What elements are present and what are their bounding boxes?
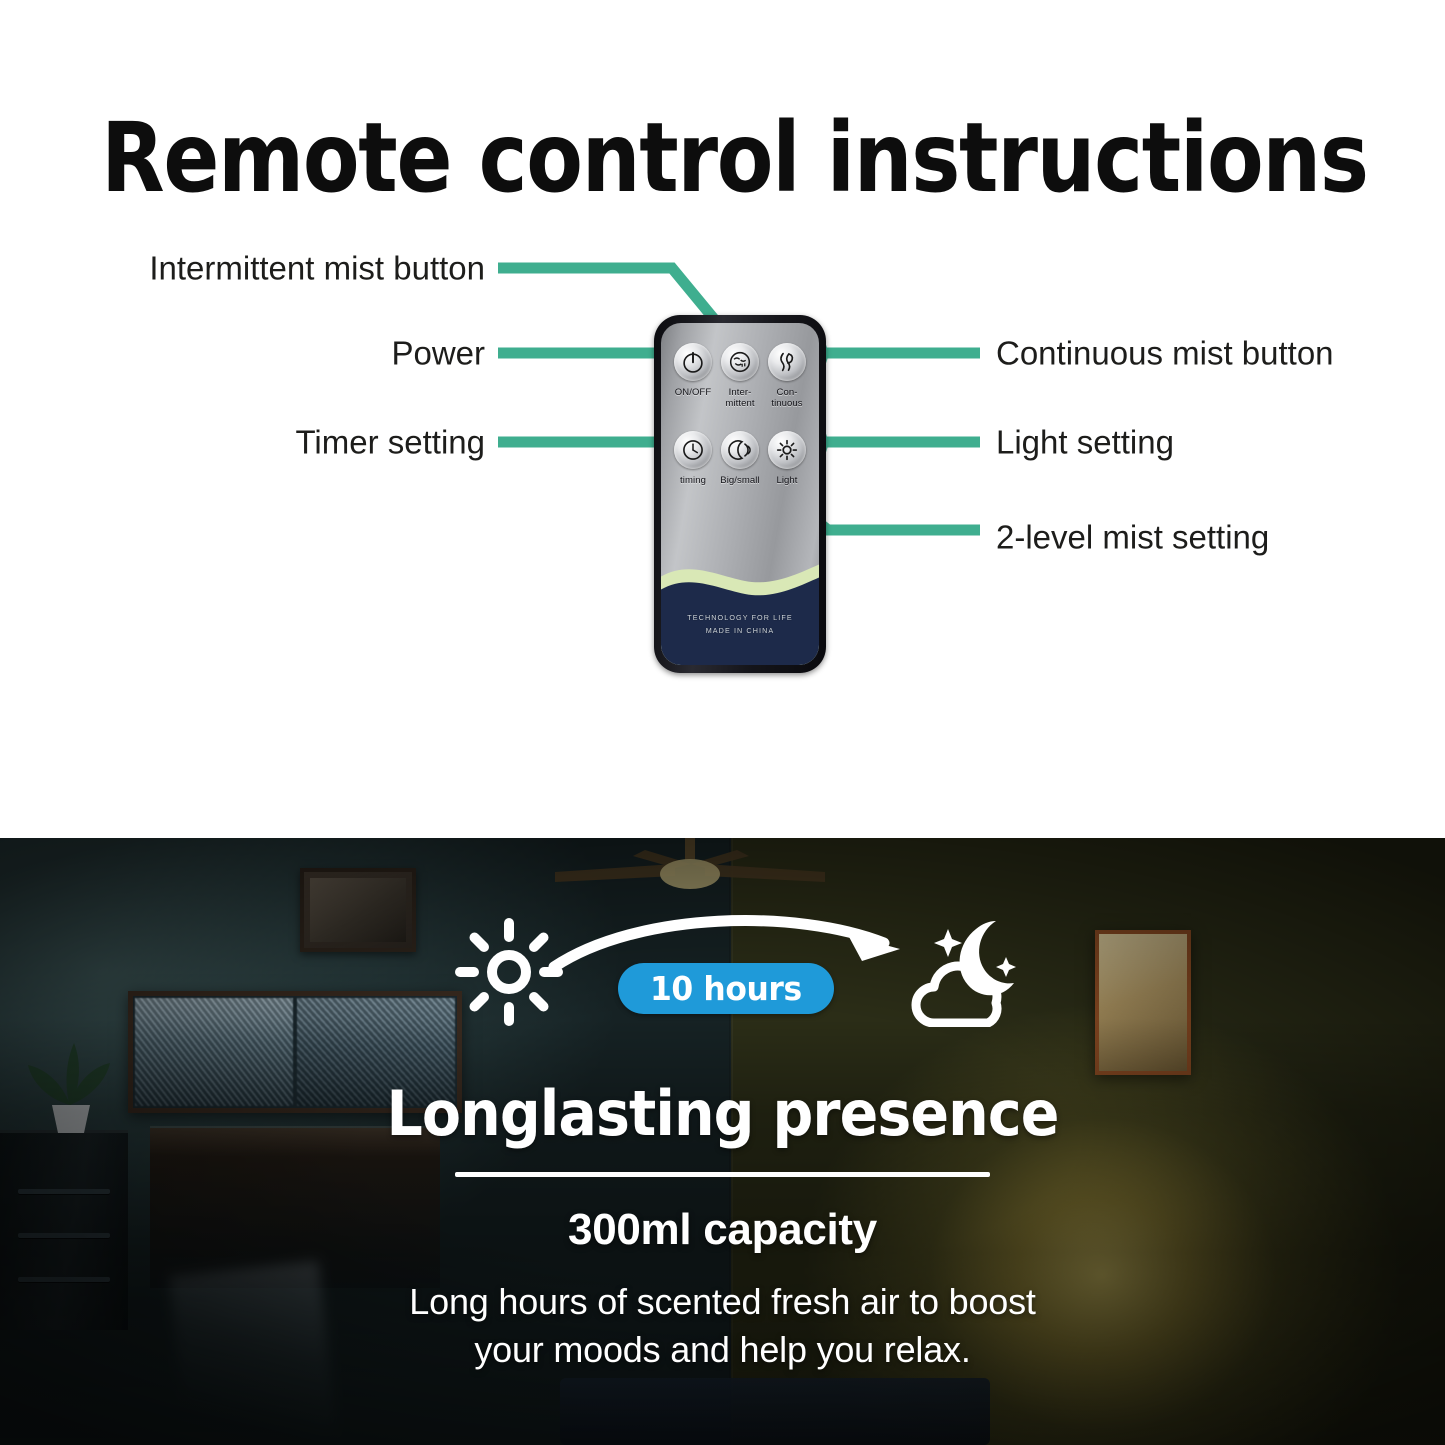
headline: Longlasting presence bbox=[58, 1083, 1387, 1145]
sun-light-icon bbox=[774, 437, 800, 463]
remote-footer-text: TECHNOLOGY FOR LIFE MADE IN CHINA bbox=[661, 611, 819, 638]
label-power: Power bbox=[0, 337, 485, 370]
remote-button-continuous[interactable] bbox=[768, 343, 806, 381]
body-copy: Long hours of scented fresh air to boost… bbox=[360, 1278, 1085, 1373]
caption-line: Con- bbox=[749, 387, 819, 398]
headline-divider bbox=[455, 1172, 990, 1177]
clock-icon bbox=[680, 437, 706, 463]
caption-line: tinuous bbox=[749, 398, 819, 409]
moon-cloud-stars-icon bbox=[900, 915, 1020, 1027]
label-continuous-mist-button: Continuous mist button bbox=[996, 337, 1334, 370]
subheadline: 300ml capacity bbox=[0, 1208, 1445, 1252]
remote-button-light[interactable] bbox=[768, 431, 806, 469]
remote-footer-line2: MADE IN CHINA bbox=[661, 624, 819, 638]
power-icon bbox=[680, 349, 706, 375]
remote-button-intermittent[interactable] bbox=[721, 343, 759, 381]
body-copy-line2: your moods and help you relax. bbox=[360, 1326, 1085, 1374]
label-intermittent-mist-button: Intermittent mist button bbox=[0, 252, 485, 285]
remote-instructions-panel: Remote control instructions Intermittent… bbox=[0, 0, 1445, 838]
hours-badge: 10 hours bbox=[618, 963, 834, 1014]
remote-control-device: ON/OFF Inter- mittent Con- tinuous bbox=[654, 315, 826, 673]
label-2-level-mist-setting: 2-level mist setting bbox=[996, 521, 1269, 554]
label-timer-setting: Timer setting bbox=[0, 426, 485, 459]
intermittent-mist-icon bbox=[727, 349, 753, 375]
body-copy-line1: Long hours of scented fresh air to boost bbox=[360, 1278, 1085, 1326]
remote-wave-graphic bbox=[661, 545, 819, 665]
label-light-setting: Light setting bbox=[996, 426, 1174, 459]
caption-line: Light bbox=[749, 475, 819, 486]
remote-button-timing[interactable] bbox=[674, 431, 712, 469]
remote-faceplate: ON/OFF Inter- mittent Con- tinuous bbox=[661, 323, 819, 665]
remote-button-big-small[interactable] bbox=[721, 431, 759, 469]
sun-icon bbox=[455, 918, 563, 1026]
continuous-mist-icon bbox=[774, 349, 800, 375]
remote-caption-light: Light bbox=[749, 475, 819, 486]
remote-button-on-off[interactable] bbox=[674, 343, 712, 381]
remote-caption-continuous: Con- tinuous bbox=[749, 387, 819, 409]
mist-level-icon bbox=[727, 437, 753, 463]
hours-badge-label: 10 hours bbox=[650, 969, 802, 1008]
page-title: Remote control instructions bbox=[101, 110, 1344, 206]
remote-footer-line1: TECHNOLOGY FOR LIFE bbox=[661, 611, 819, 625]
